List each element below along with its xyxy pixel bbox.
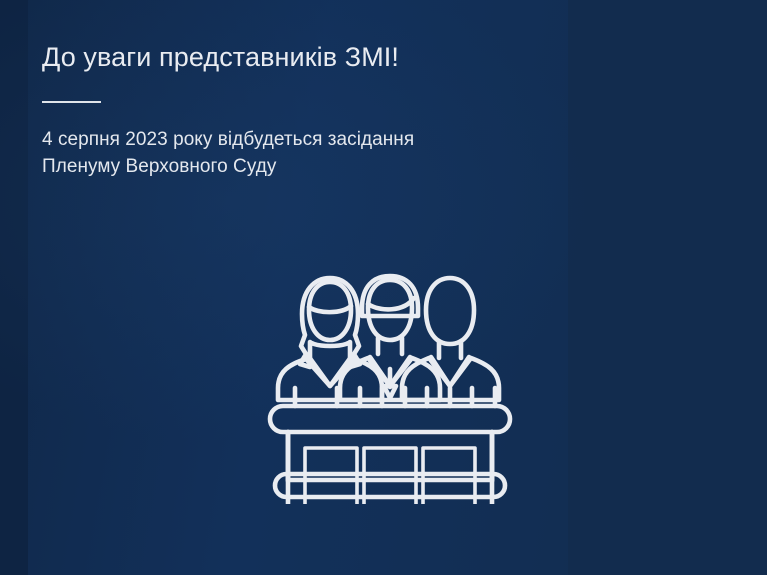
text-block: До уваги представників ЗМІ! 4 серпня 202… [42, 40, 562, 180]
divider-rule [42, 101, 101, 103]
subtitle-line-2: Пленуму Верховного Суду [42, 153, 562, 180]
headline: До уваги представників ЗМІ! [42, 40, 562, 74]
background-strip-left [0, 0, 28, 575]
background-strip-right [568, 0, 767, 575]
three-judges-at-bench-icon [262, 236, 518, 504]
subtitle-line-1: 4 серпня 2023 року відбудеться засідання [42, 126, 562, 153]
subtitle: 4 серпня 2023 року відбудеться засідання… [42, 126, 562, 180]
media-announcement-banner: До уваги представників ЗМІ! 4 серпня 202… [0, 0, 767, 575]
bench-base-rail [262, 468, 518, 502]
